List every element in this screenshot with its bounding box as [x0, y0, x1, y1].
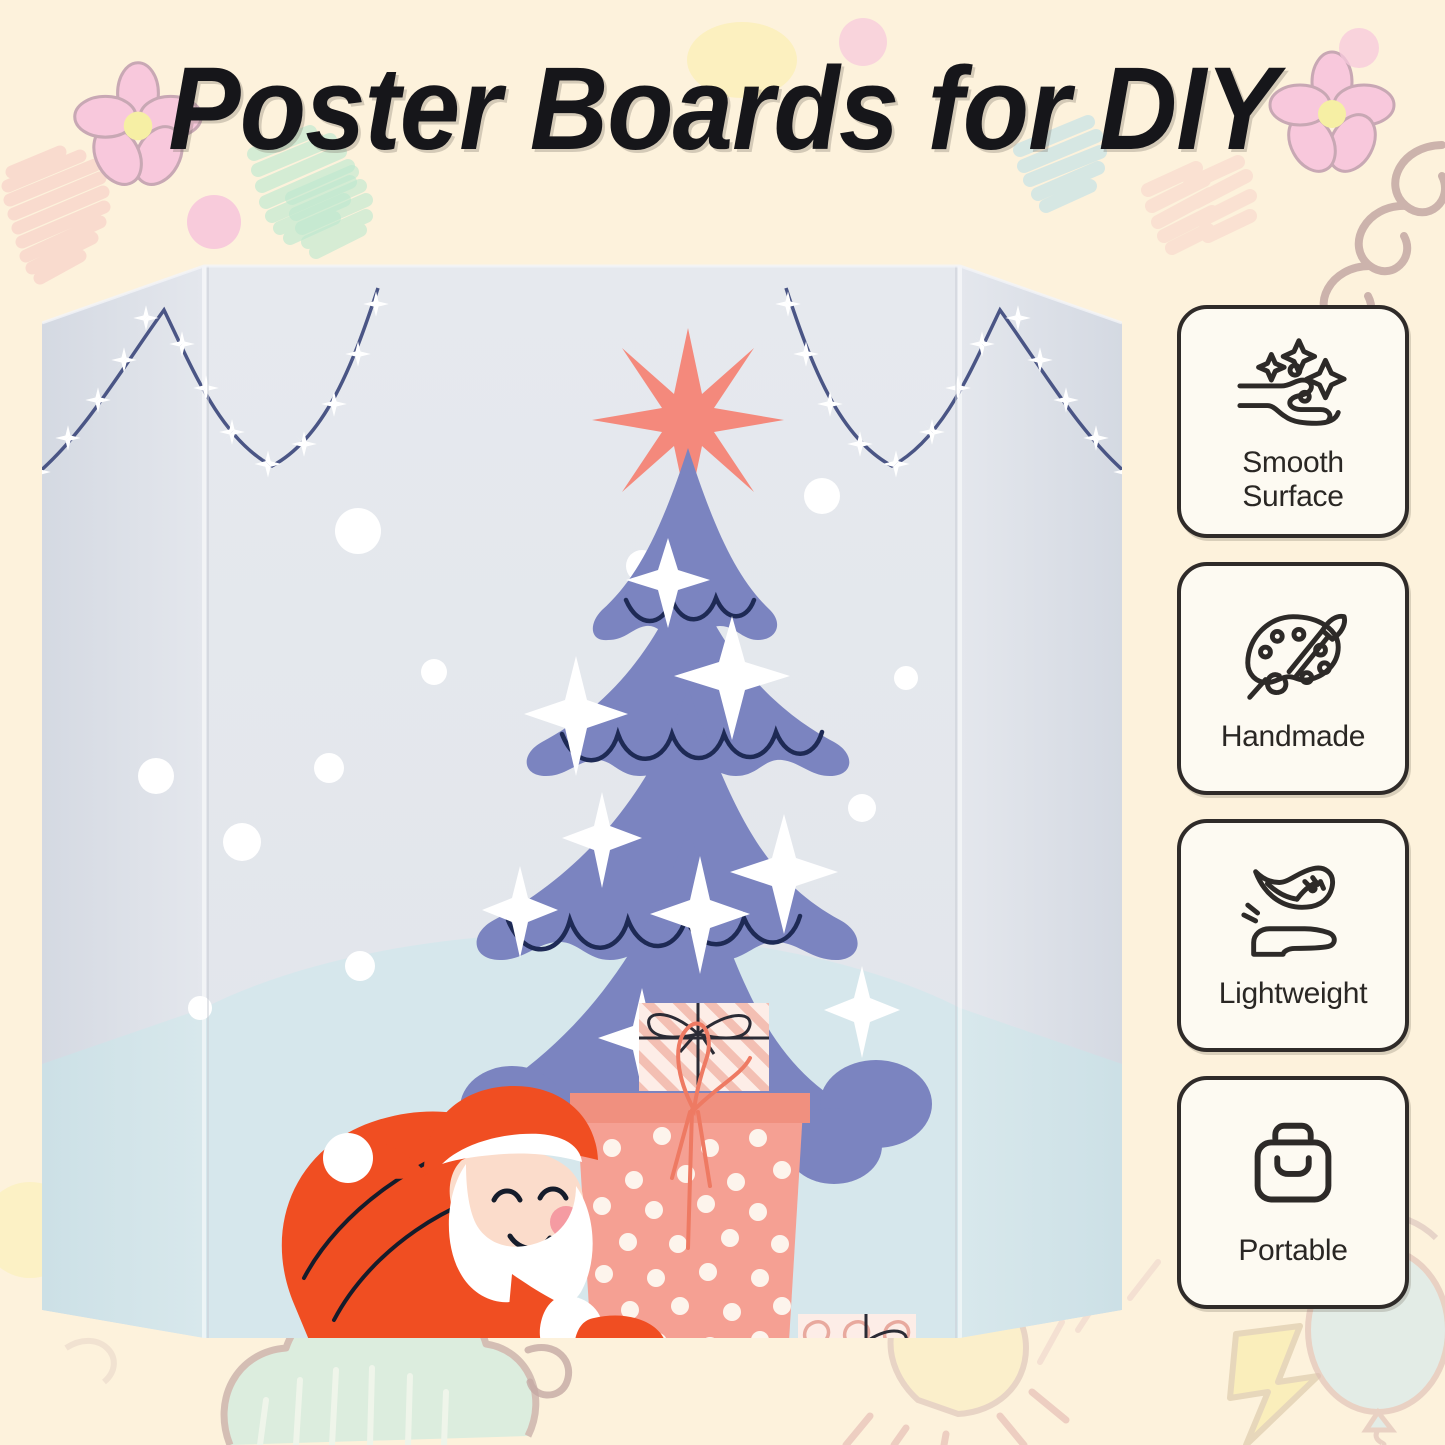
feature-badges: Smooth Surface: [1177, 305, 1409, 1309]
gift-box-striped-top: [639, 1003, 769, 1091]
doodle-dot-pink-1: [187, 195, 241, 249]
badge-label-smooth-surface: Smooth Surface: [1236, 446, 1350, 513]
page-title: Poster Boards for DIY: [0, 46, 1445, 173]
doodle-squiggle-left: [66, 1341, 114, 1382]
badge-lightweight[interactable]: Lightweight: [1177, 819, 1409, 1052]
product-image-trifold-board: [42, 248, 1122, 1338]
badge-label-handmade: Handmade: [1215, 720, 1371, 754]
badge-portable[interactable]: Portable: [1177, 1076, 1409, 1309]
paint-palette-icon: [1234, 604, 1352, 708]
santa-hat-pompom: [323, 1133, 373, 1183]
badge-smooth-surface[interactable]: Smooth Surface: [1177, 305, 1409, 538]
hand-sparkle-icon: [1234, 330, 1352, 434]
briefcase-icon: [1234, 1118, 1352, 1222]
badge-label-portable: Portable: [1232, 1234, 1353, 1268]
feather-on-hand-icon: [1234, 861, 1352, 965]
doodle-scribble-green-mid: [292, 172, 366, 252]
page-title-text: Poster Boards for DIY: [168, 46, 1277, 173]
badge-label-lightweight: Lightweight: [1213, 977, 1373, 1011]
product-marketing-image: Poster Boards for DIY: [0, 0, 1445, 1445]
board-panels: [42, 266, 1122, 1338]
doodle-cloud-curl-small: [528, 1348, 569, 1396]
badge-handmade[interactable]: Handmade: [1177, 562, 1409, 795]
gift-box-loop-right: [798, 1314, 916, 1338]
doodle-lightning-bolt: [1230, 1326, 1318, 1445]
